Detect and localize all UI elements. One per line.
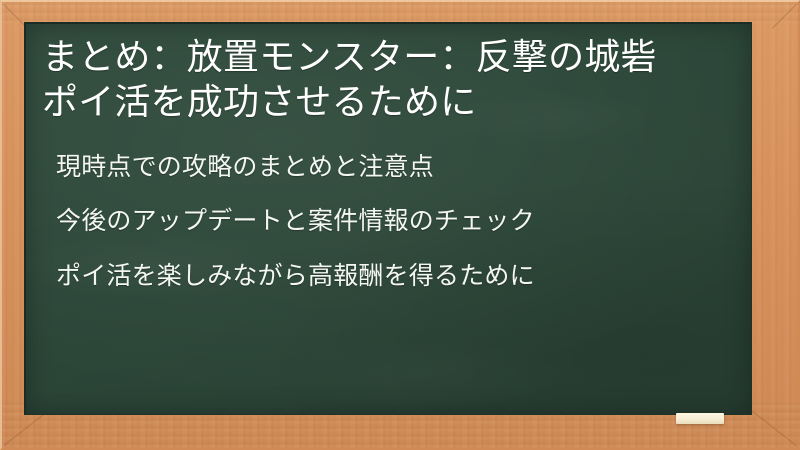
frame-mitre-top-right: [772, 4, 797, 29]
chalkboard-surface: まとめ：放置モンスター：反撃の城砦 ポイ活を成功させるために 現時点での攻略のま…: [24, 22, 752, 415]
list-item: 今後のアップデートと案件情報のチェック: [56, 205, 735, 238]
slide-bullet-list: 現時点での攻略のまとめと注意点 今後のアップデートと案件情報のチェック ポイ活を…: [42, 151, 735, 293]
frame-top-rail: [2, 2, 800, 24]
list-item: 現時点での攻略のまとめと注意点: [56, 151, 735, 184]
chalk-stick-icon: [676, 413, 724, 424]
slide-title: まとめ：放置モンスター：反撃の城砦 ポイ活を成功させるために: [42, 34, 735, 125]
list-item: ポイ活を楽しみながら高報酬を得るために: [56, 260, 735, 293]
slide-canvas: まとめ：放置モンスター：反撃の城砦 ポイ活を成功させるために 現時点での攻略のま…: [0, 0, 800, 450]
chalkboard-content: まとめ：放置モンスター：反撃の城砦 ポイ活を成功させるために 現時点での攻略のま…: [26, 24, 751, 292]
frame-mitre-bottom-right: [749, 408, 797, 446]
